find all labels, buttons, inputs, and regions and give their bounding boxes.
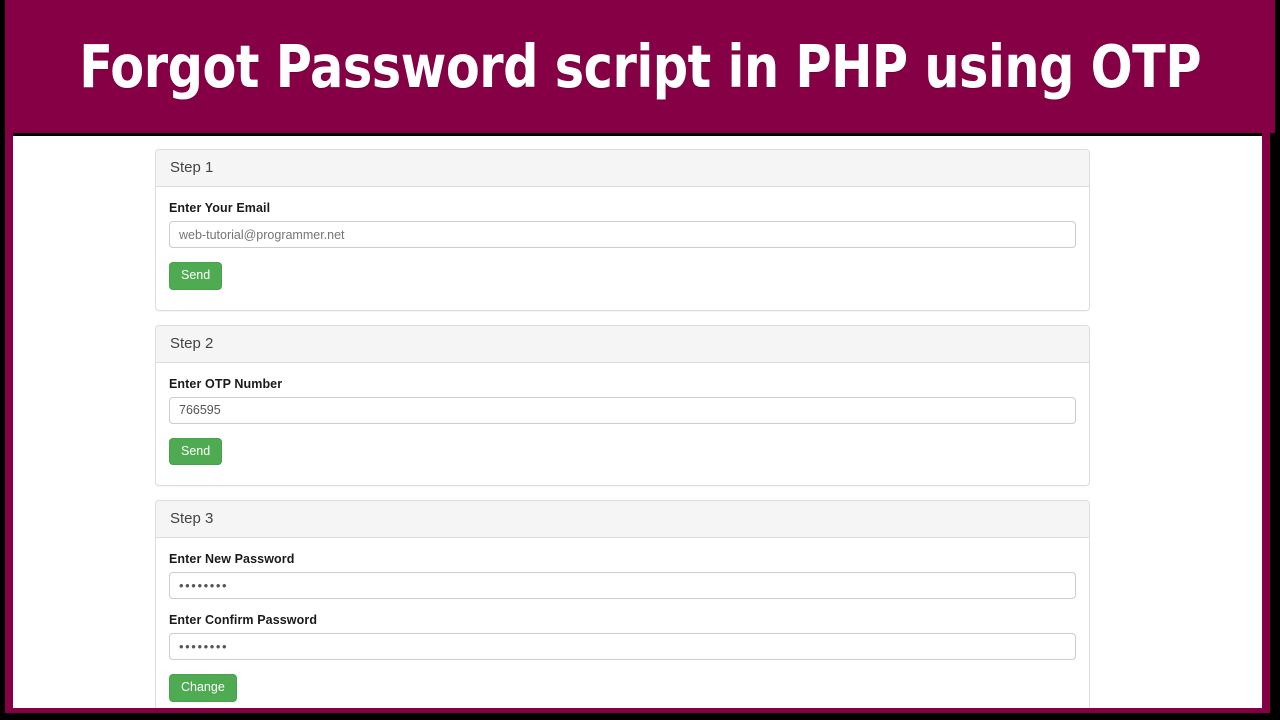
panel-title-step-2: Step 2 [170, 335, 1075, 353]
frame-rule-left [5, 133, 13, 713]
form-group-confirm-password: Enter Confirm Password [169, 613, 1076, 660]
title-banner: Forgot Password script in PHP using OTP [5, 0, 1275, 133]
panel-step-1: Step 1 Enter Your Email Send [155, 149, 1090, 311]
panel-heading-step-1: Step 1 [156, 150, 1089, 187]
change-password-button[interactable]: Change [169, 674, 237, 702]
panel-step-2: Step 2 Enter OTP Number Send [155, 325, 1090, 487]
form-container: Step 1 Enter Your Email Send Step 2 [155, 149, 1090, 708]
confirm-password-input[interactable] [169, 633, 1076, 660]
send-email-button[interactable]: Send [169, 262, 222, 290]
panel-heading-step-3: Step 3 [156, 501, 1089, 538]
panel-heading-step-2: Step 2 [156, 326, 1089, 363]
new-password-input[interactable] [169, 572, 1076, 599]
otp-input[interactable] [169, 397, 1076, 424]
label-enter-your-email: Enter Your Email [169, 201, 1076, 215]
send-otp-button[interactable]: Send [169, 438, 222, 466]
panel-body-step-2: Enter OTP Number Send [156, 363, 1089, 486]
title-banner-text: Forgot Password script in PHP using OTP [79, 37, 1201, 96]
panel-body-step-3: Enter New Password Enter Confirm Passwor… [156, 538, 1089, 708]
browser-page: Step 1 Enter Your Email Send Step 2 [13, 136, 1262, 708]
label-enter-otp-number: Enter OTP Number [169, 377, 1076, 391]
panel-title-step-1: Step 1 [170, 159, 1075, 177]
video-frame: Forgot Password script in PHP using OTP … [0, 0, 1280, 720]
form-group-otp: Enter OTP Number [169, 377, 1076, 424]
panel-body-step-1: Enter Your Email Send [156, 187, 1089, 310]
frame-rule-right [1262, 133, 1270, 713]
form-group-new-password: Enter New Password [169, 552, 1076, 599]
email-input[interactable] [169, 221, 1076, 248]
panel-title-step-3: Step 3 [170, 510, 1075, 528]
label-enter-new-password: Enter New Password [169, 552, 1076, 566]
panel-step-3: Step 3 Enter New Password Enter Confirm … [155, 500, 1090, 708]
label-enter-confirm-password: Enter Confirm Password [169, 613, 1076, 627]
form-group-email: Enter Your Email [169, 201, 1076, 248]
